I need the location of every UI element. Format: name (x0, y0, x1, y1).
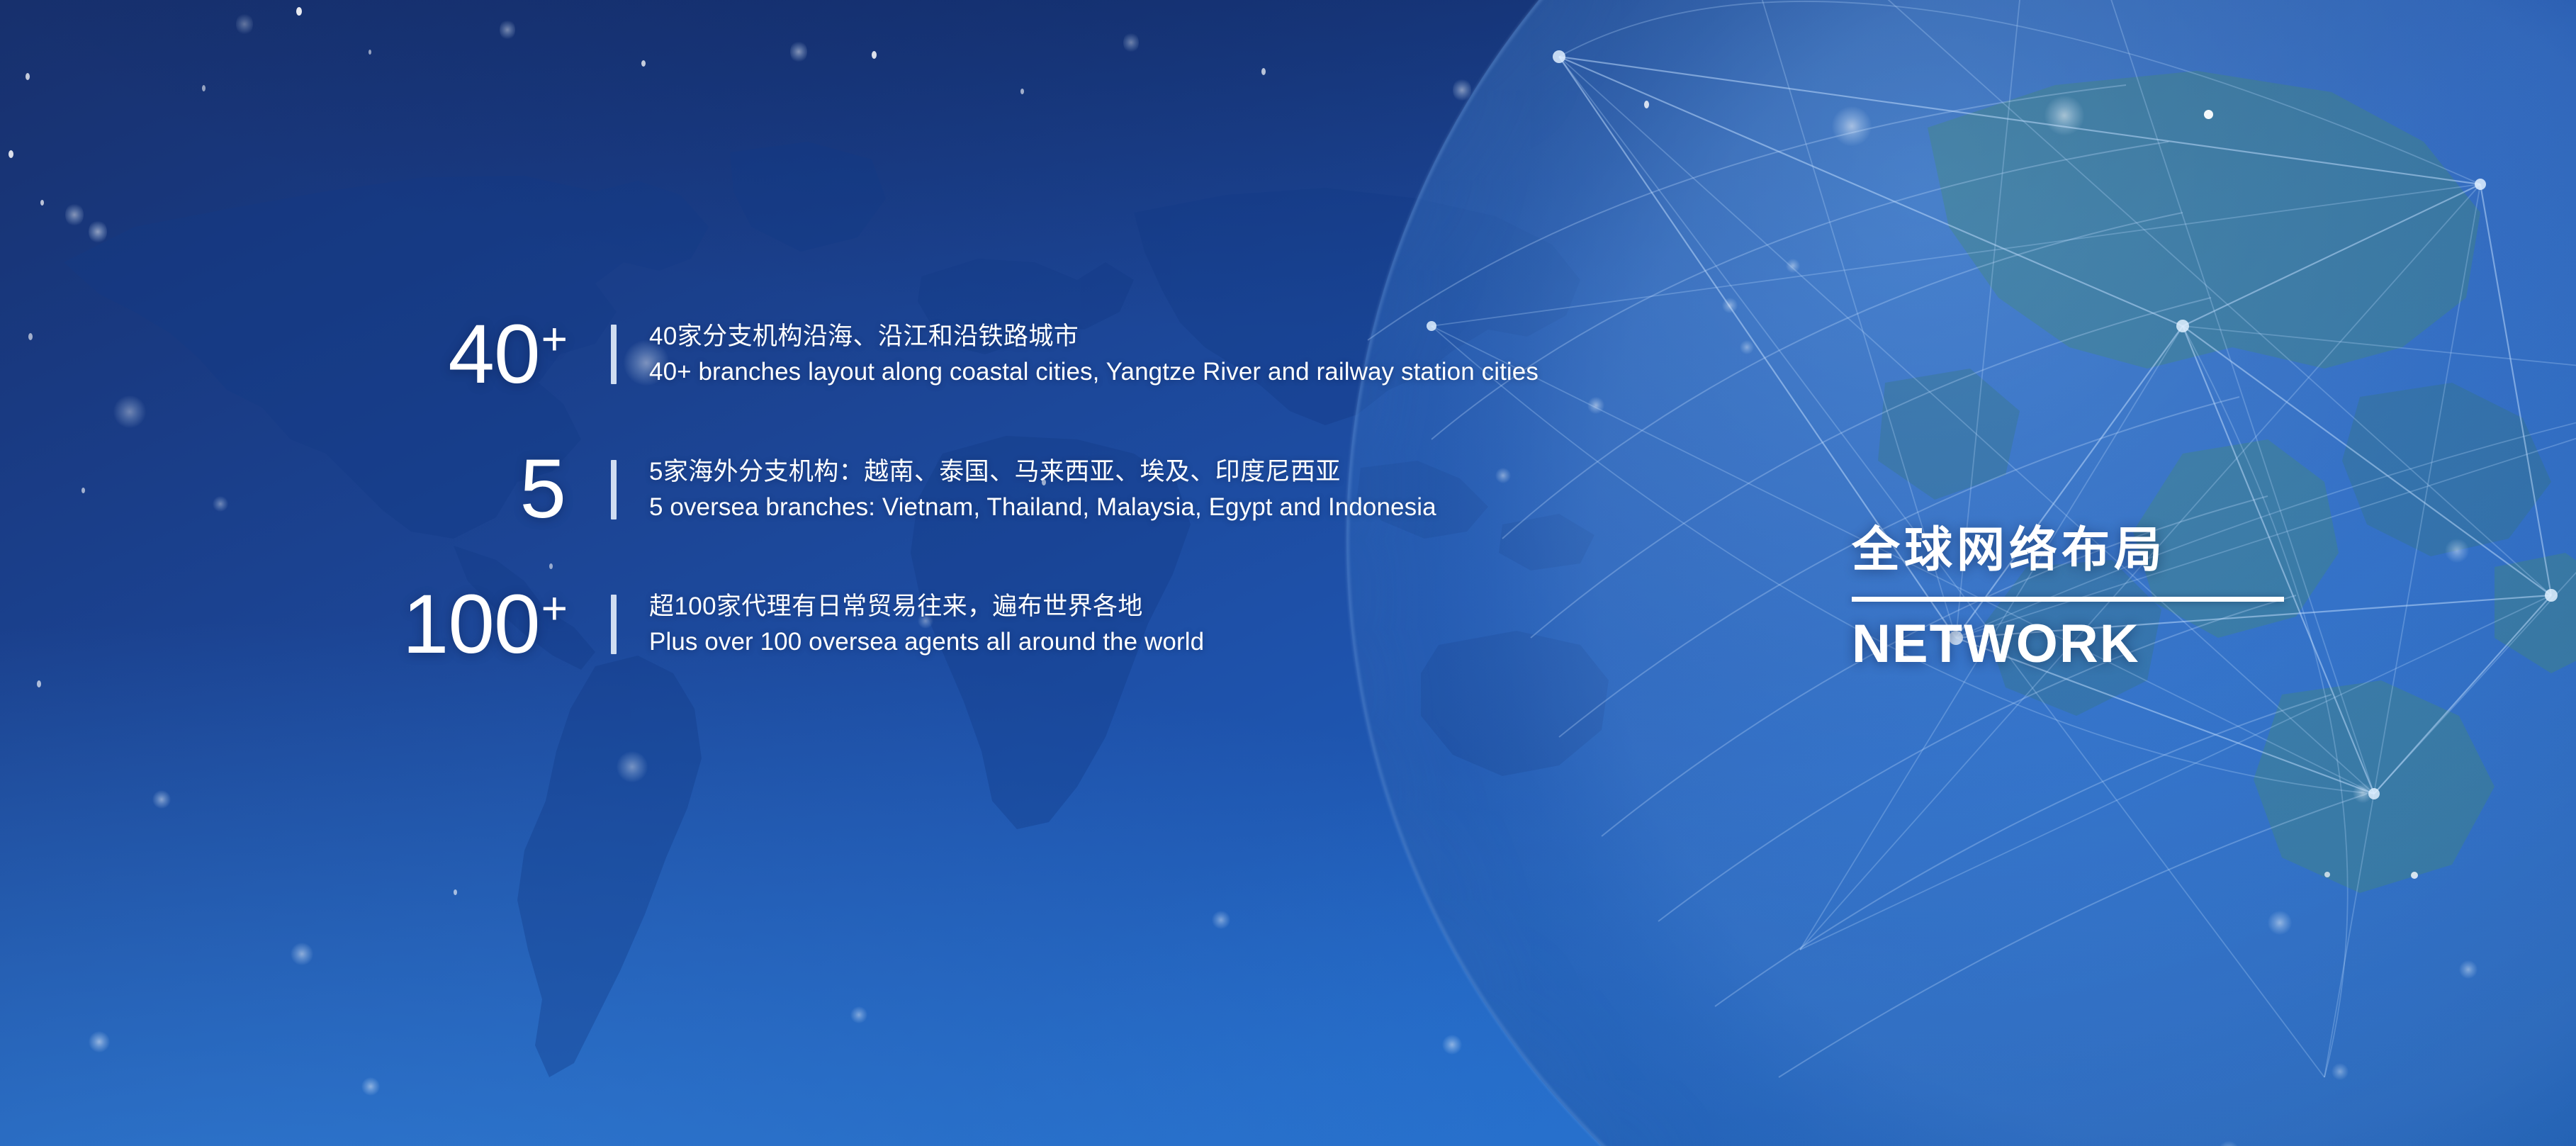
stat-description-en: Plus over 100 oversea agents all around … (649, 624, 1204, 660)
stat-number-suffix: + (541, 583, 567, 634)
stat-number-5: 5 (0, 446, 567, 532)
stat-number-value: 100 (403, 578, 540, 671)
stat-number-value: 5 (519, 442, 566, 536)
stats-list: 40+ 40家分支机构沿海、沿江和沿铁路城市 40+ branches layo… (0, 312, 1559, 667)
title-divider-rule (1852, 597, 2284, 602)
stat-separator-bar (611, 595, 617, 654)
stat-number-100: 100+ (0, 582, 567, 667)
stat-separator-bar (611, 325, 617, 384)
network-banner: 40+ 40家分支机构沿海、沿江和沿铁路城市 40+ branches layo… (0, 0, 2576, 1146)
banner-title-block: 全球网络布局 NETWORK (1852, 526, 2291, 671)
stat-number-value: 40 (448, 308, 539, 401)
stat-description-cn: 5家海外分支机构：越南、泰国、马来西亚、埃及、印度尼西亚 (649, 454, 1436, 490)
stat-description-cn: 40家分支机构沿海、沿江和沿铁路城市 (649, 319, 1539, 354)
stat-row: 40+ 40家分支机构沿海、沿江和沿铁路城市 40+ branches layo… (0, 312, 1559, 397)
stat-row: 5 5家海外分支机构：越南、泰国、马来西亚、埃及、印度尼西亚 5 oversea… (0, 446, 1559, 532)
stat-separator-bar (611, 460, 617, 519)
stat-number-suffix: + (541, 313, 567, 364)
stat-row: 100+ 超100家代理有日常贸易往来，遍布世界各地 Plus over 100… (0, 582, 1559, 667)
stat-description-cn: 超100家代理有日常贸易往来，遍布世界各地 (649, 589, 1204, 624)
stat-text-block: 40家分支机构沿海、沿江和沿铁路城市 40+ branches layout a… (649, 319, 1539, 389)
banner-title-en: NETWORK (1852, 617, 2291, 671)
stat-description-en: 5 oversea branches: Vietnam, Thailand, M… (649, 490, 1436, 525)
stat-text-block: 5家海外分支机构：越南、泰国、马来西亚、埃及、印度尼西亚 5 oversea b… (649, 454, 1436, 524)
stat-number-40: 40+ (0, 312, 567, 397)
stat-text-block: 超100家代理有日常贸易往来，遍布世界各地 Plus over 100 over… (649, 589, 1204, 659)
stat-description-en: 40+ branches layout along coastal cities… (649, 354, 1539, 390)
banner-title-cn: 全球网络布局 (1852, 526, 2291, 574)
